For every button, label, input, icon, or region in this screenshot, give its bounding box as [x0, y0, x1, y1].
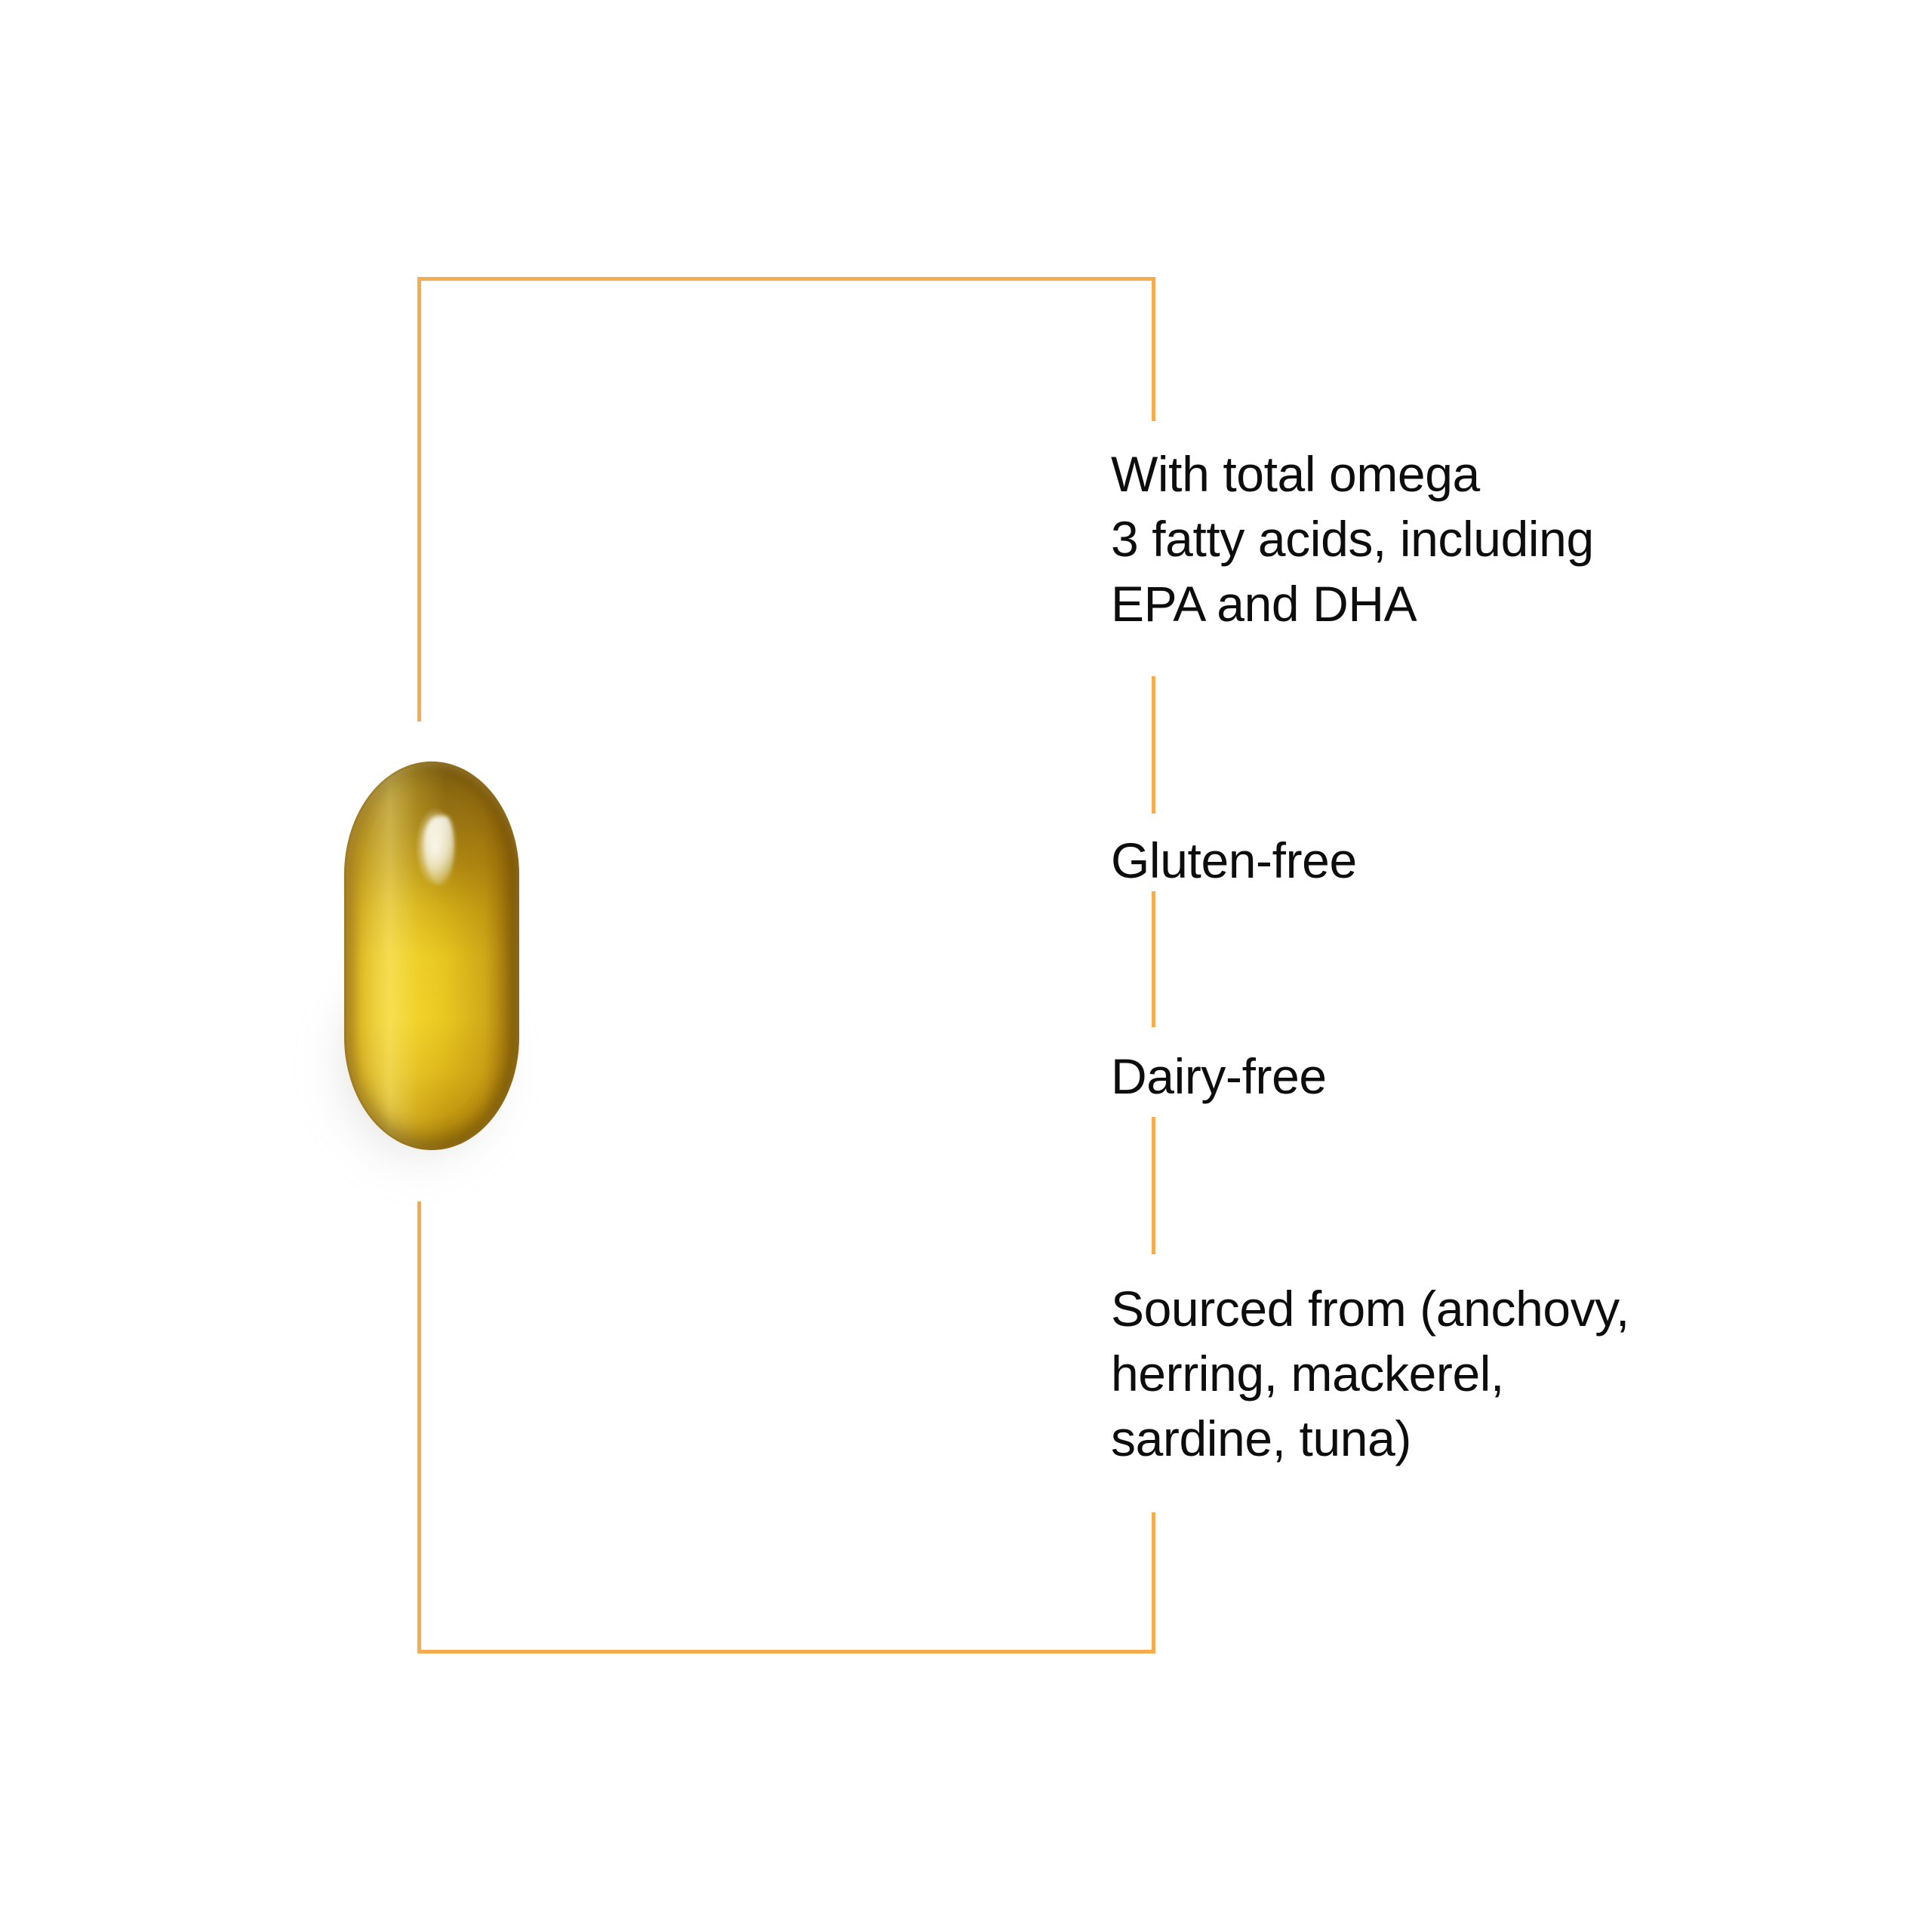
bracket-line-right-seg-2: [1152, 676, 1155, 814]
bracket-line-right-seg-3: [1152, 891, 1155, 1027]
feature-text-omega-3: With total omega 3 fatty acids, includin…: [1111, 442, 1881, 636]
infographic-canvas: With total omega 3 fatty acids, includin…: [0, 0, 1932, 1932]
bracket-line-right-seg-4: [1152, 1117, 1155, 1254]
feature-text-sourced-from: Sourced from (anchovy, herring, mackerel…: [1111, 1277, 1881, 1471]
softgel-capsule-image: [325, 743, 551, 1196]
bracket-line-right-seg-5: [1152, 1512, 1155, 1654]
feature-text-gluten-free: Gluten-free: [1111, 829, 1881, 894]
bracket-line-left-upper: [417, 277, 421, 721]
bracket-line-top: [417, 277, 1155, 281]
bracket-line-left-lower: [417, 1201, 421, 1654]
bracket-line-right-seg-1: [1152, 277, 1155, 421]
bracket-line-bottom: [417, 1650, 1155, 1654]
feature-text-dairy-free: Dairy-free: [1111, 1044, 1881, 1109]
